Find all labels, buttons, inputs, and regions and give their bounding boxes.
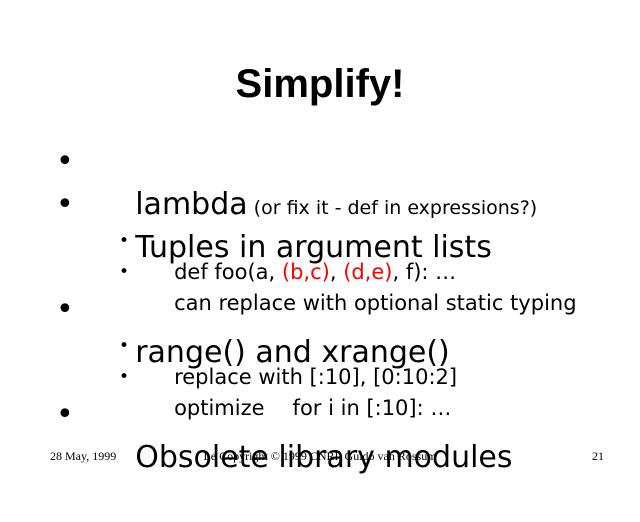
bullet-glyph-icon: •	[56, 288, 74, 331]
presentation-slide: Simplify! •lambda (or fix it - def in ex…	[0, 0, 640, 480]
bullet-item-lambda: •lambda (or fix it - def in expressions?…	[0, 140, 640, 183]
bullet-glyph-icon: •	[56, 393, 74, 436]
bullet-item-range: •range() and xrange()	[0, 288, 640, 331]
slide-title: Simplify!	[0, 62, 640, 106]
slide-footer: 28 May, 1999 Le Copyright © 1999 CNRI, G…	[0, 448, 640, 468]
footer-page-number: 21	[580, 448, 640, 464]
bullet-item-obsolete-modules: •Obsolete library modules	[0, 393, 640, 436]
bullet-glyph-icon: •	[119, 331, 129, 362]
bullet-glyph-icon: •	[56, 183, 74, 226]
bullet-glyph-icon: •	[56, 140, 74, 183]
bullet-glyph-icon: •	[119, 257, 129, 288]
bullet-item-tuples: •Tuples in argument lists	[0, 183, 640, 226]
footer-copyright: Le Copyright © 1999 CNRI, Guido van Ross…	[0, 448, 640, 464]
sub-bullet-item-static-typing: •can replace with optional static typing	[0, 257, 640, 288]
sub-bullet-item-optimize: •optimizefor i in [:10]: …	[0, 362, 640, 393]
bullet-glyph-icon: •	[119, 362, 129, 393]
slide-body-list: •lambda (or fix it - def in expressions?…	[0, 140, 640, 436]
sub-bullet-item-def-foo: •def foo(a, (b,c), (d,e), f): …	[0, 226, 640, 257]
sub-bullet-item-replace-slice: •replace with [:10], [0:10:2]	[0, 331, 640, 362]
bullet-glyph-icon: •	[119, 226, 129, 257]
